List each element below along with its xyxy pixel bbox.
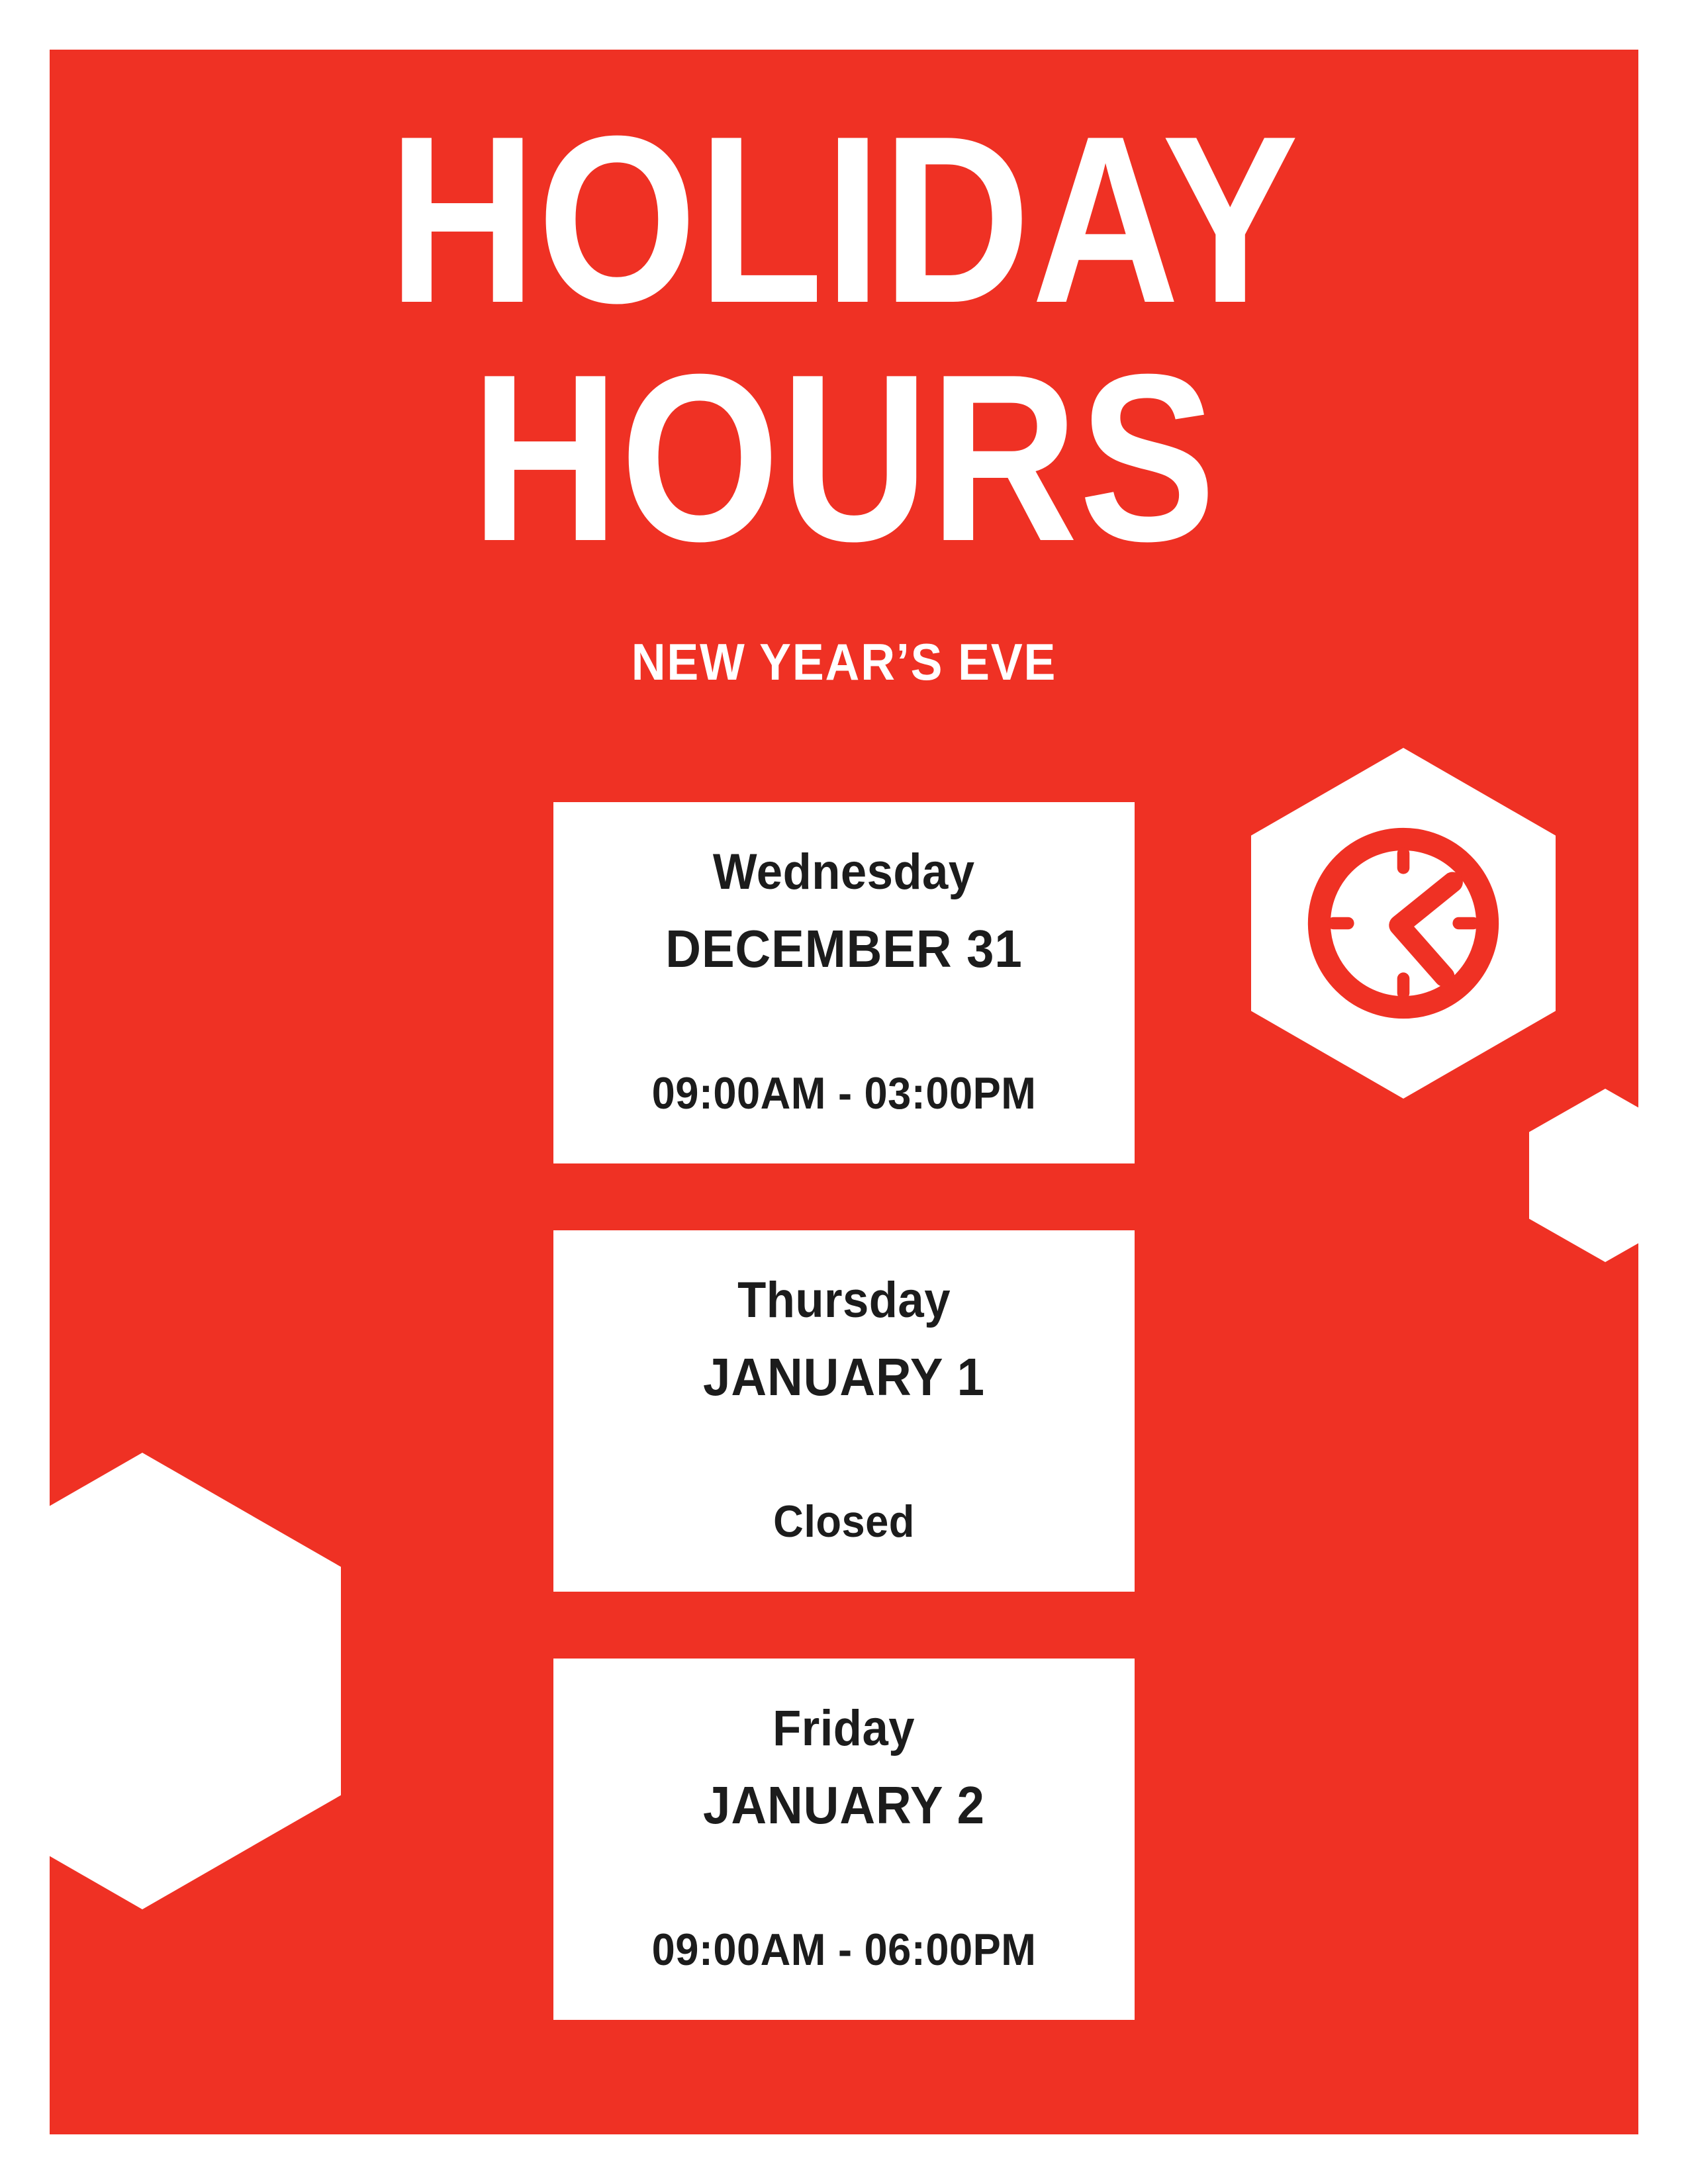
page-title-line-2: HOURS bbox=[161, 361, 1527, 556]
schedule-card: Thursday JANUARY 1 Closed bbox=[553, 1230, 1135, 1592]
schedule-card: Wednesday DECEMBER 31 09:00AM - 03:00PM bbox=[553, 802, 1135, 1163]
poster-canvas: HOLIDAY HOURS NEW YEAR’S EVE bbox=[0, 0, 1688, 2184]
page-subtitle: NEW YEAR’S EVE bbox=[113, 632, 1575, 692]
schedule-list: Wednesday DECEMBER 31 09:00AM - 03:00PM … bbox=[553, 802, 1135, 2020]
card-hours-label: 09:00AM - 06:00PM bbox=[574, 1927, 1115, 1972]
card-hours-label: 09:00AM - 03:00PM bbox=[574, 1071, 1115, 1116]
card-date-label: JANUARY 1 bbox=[703, 1351, 985, 1404]
card-day-label: Wednesday bbox=[713, 847, 975, 897]
clock-icon bbox=[1301, 821, 1506, 1026]
hexagon-decoration-small bbox=[1529, 1089, 1638, 1262]
page-title-line-1: HOLIDAY bbox=[161, 122, 1527, 318]
card-day-label: Friday bbox=[773, 1704, 915, 1754]
card-date-label: JANUARY 2 bbox=[703, 1779, 985, 1832]
card-hours-label: Closed bbox=[574, 1499, 1115, 1544]
card-date-label: DECEMBER 31 bbox=[665, 923, 1022, 976]
hexagon-decoration-large bbox=[50, 1453, 341, 1909]
card-day-label: Thursday bbox=[737, 1275, 951, 1326]
clock-badge bbox=[1251, 748, 1556, 1099]
schedule-card: Friday JANUARY 2 09:00AM - 06:00PM bbox=[553, 1659, 1135, 2020]
red-background-panel: HOLIDAY HOURS NEW YEAR’S EVE bbox=[50, 50, 1638, 2134]
